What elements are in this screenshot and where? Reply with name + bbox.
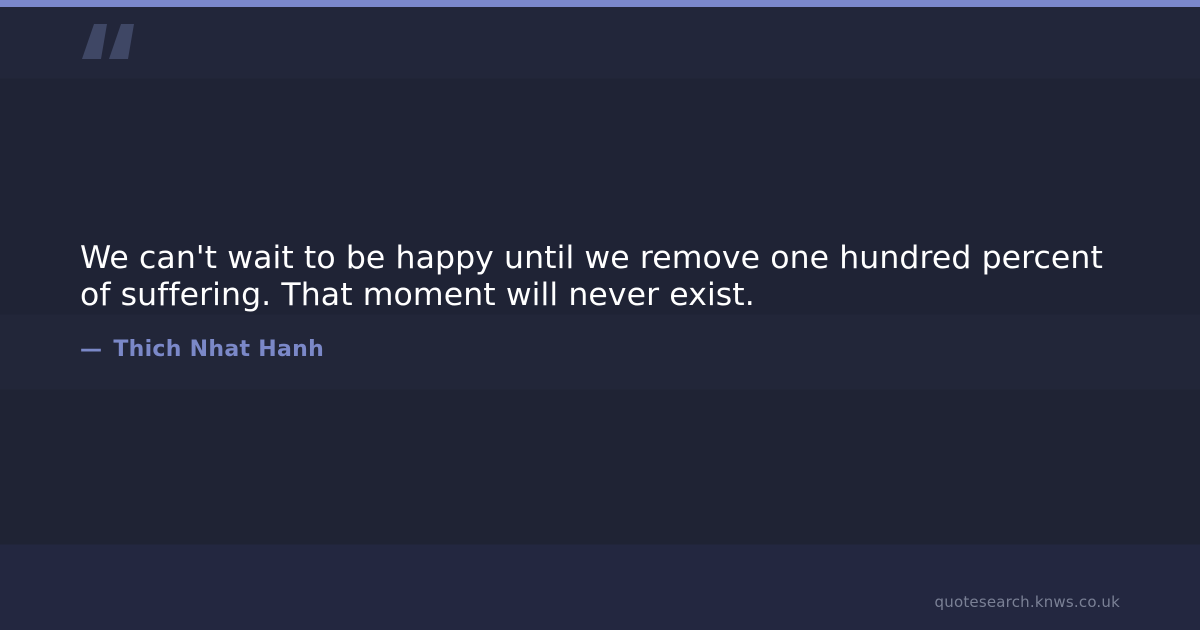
quote-attribution: — Thich Nhat Hanh [80,337,324,362]
quote-text: We can't wait to be happy until we remov… [80,240,1125,314]
site-watermark: quotesearch.knws.co.uk [935,593,1120,611]
double-quote-icon [78,16,148,86]
attribution-dash: — [80,337,102,362]
quote-card: We can't wait to be happy until we remov… [0,0,1200,630]
quote-block: We can't wait to be happy until we remov… [80,240,1125,314]
quote-author: Thich Nhat Hanh [113,337,324,362]
accent-bar [0,0,1200,7]
